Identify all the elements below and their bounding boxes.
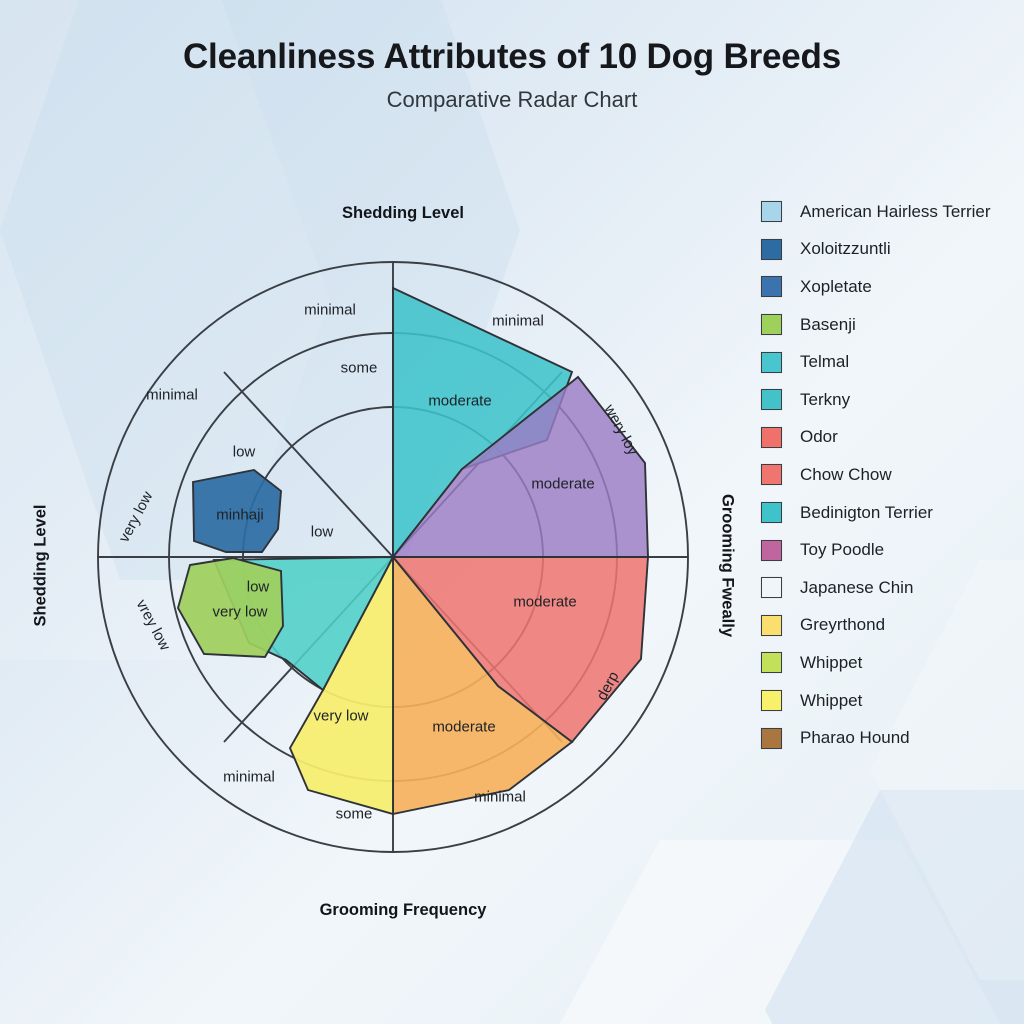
- radar-tick-label: some: [341, 360, 378, 377]
- legend-swatch: [761, 652, 782, 673]
- legend-item[interactable]: Basenji: [761, 306, 1016, 344]
- radar-tick-label: minimal: [492, 313, 544, 330]
- radar-tick-label: low: [247, 579, 270, 596]
- legend-swatch: [761, 577, 782, 598]
- legend-item[interactable]: Whippet: [761, 644, 1016, 682]
- legend-item[interactable]: Pharao Hound: [761, 719, 1016, 757]
- legend-item[interactable]: American Hairless Terrier: [761, 193, 1016, 231]
- legend-swatch: [761, 464, 782, 485]
- legend-item[interactable]: Japanese Chin: [761, 569, 1016, 607]
- axis-title-top: Shedding Level: [0, 204, 806, 223]
- axis-title-left: Shedding Level: [32, 476, 51, 656]
- radar-tick-label: moderate: [513, 594, 576, 611]
- legend-item[interactable]: Bedinigton Terrier: [761, 494, 1016, 532]
- radar-tick-label: moderate: [432, 719, 495, 736]
- radar-tick-label: some: [336, 806, 373, 823]
- radar-tick-label: low: [311, 524, 334, 541]
- radar-tick-label: moderate: [531, 476, 594, 493]
- legend-item[interactable]: Whippet: [761, 682, 1016, 720]
- legend-swatch: [761, 690, 782, 711]
- legend-item[interactable]: Telmal: [761, 343, 1016, 381]
- radar-tick-label: low: [233, 444, 256, 461]
- radar-tick-label: minimal: [146, 387, 198, 404]
- legend-item-label: Greyrthond: [800, 615, 885, 635]
- legend-swatch: [761, 352, 782, 373]
- legend-item-label: Xoloitzzuntli: [800, 239, 891, 259]
- radar-tick-label: very low: [313, 708, 368, 725]
- legend-item-label: American Hairless Terrier: [800, 202, 991, 222]
- legend-item-label: Whippet: [800, 691, 862, 711]
- radar-tick-label: moderate: [428, 393, 491, 410]
- legend-item-label: Pharao Hound: [800, 728, 910, 748]
- radar-tick-label: very low: [212, 604, 267, 621]
- legend: American Hairless TerrierXoloitzzuntliXo…: [761, 193, 1016, 757]
- legend-item-label: Telmal: [800, 352, 849, 372]
- legend-item[interactable]: Xoloitzzuntli: [761, 231, 1016, 269]
- legend-item[interactable]: Chow Chow: [761, 456, 1016, 494]
- legend-item-label: Terkny: [800, 390, 850, 410]
- legend-item-label: Chow Chow: [800, 465, 892, 485]
- legend-swatch: [761, 389, 782, 410]
- legend-swatch: [761, 239, 782, 260]
- legend-item-label: Whippet: [800, 653, 862, 673]
- legend-swatch: [761, 276, 782, 297]
- legend-swatch: [761, 615, 782, 636]
- radar-tick-label: minimal: [223, 769, 275, 786]
- legend-item-label: Bedinigton Terrier: [800, 503, 933, 523]
- legend-item[interactable]: Xopletate: [761, 268, 1016, 306]
- legend-item[interactable]: Toy Poodle: [761, 531, 1016, 569]
- legend-swatch: [761, 201, 782, 222]
- legend-item-label: Xopletate: [800, 277, 872, 297]
- legend-item-label: Japanese Chin: [800, 578, 913, 598]
- legend-item[interactable]: Odor: [761, 419, 1016, 457]
- legend-swatch: [761, 540, 782, 561]
- legend-item-label: Basenji: [800, 315, 856, 335]
- axis-title-bottom: Grooming Frequency: [0, 901, 806, 920]
- legend-swatch: [761, 728, 782, 749]
- radar-tick-label: minhaji: [216, 507, 264, 524]
- legend-swatch: [761, 502, 782, 523]
- legend-item-label: Toy Poodle: [800, 540, 884, 560]
- legend-item-label: Odor: [800, 427, 838, 447]
- radar-tick-label: minimal: [304, 302, 356, 319]
- legend-swatch: [761, 314, 782, 335]
- radar-tick-label: minimal: [474, 789, 526, 806]
- radar-series-areas: [178, 288, 648, 814]
- legend-item[interactable]: Terkny: [761, 381, 1016, 419]
- axis-title-right: Grooming Fweally: [718, 476, 737, 656]
- legend-swatch: [761, 427, 782, 448]
- legend-item[interactable]: Greyrthond: [761, 607, 1016, 645]
